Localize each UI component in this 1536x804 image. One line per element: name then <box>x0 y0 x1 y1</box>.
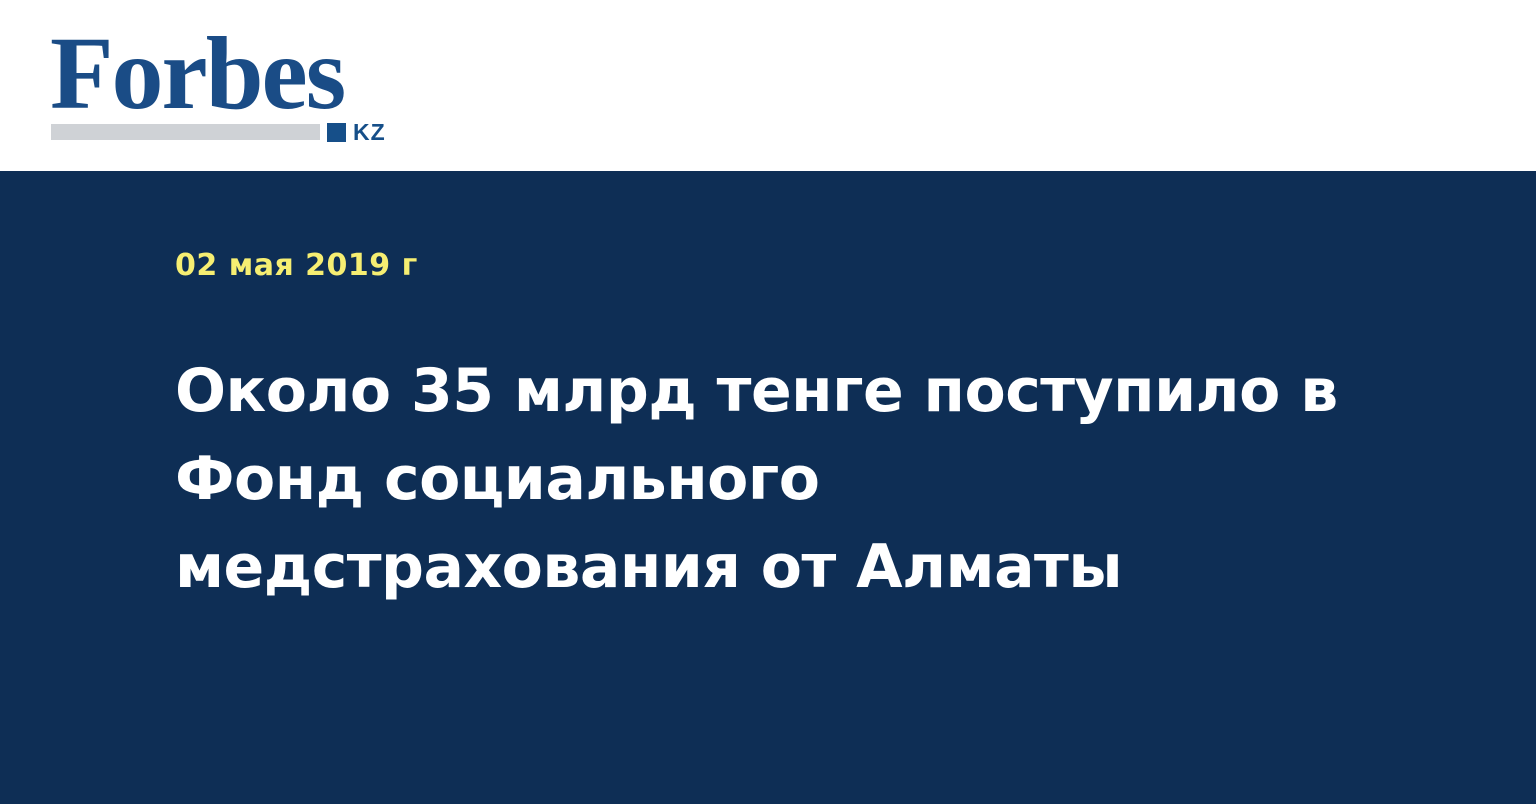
logo-blue-square-icon <box>327 123 346 142</box>
logo-kz-suffix: KZ <box>353 121 386 144</box>
forbes-kz-logo[interactable]: Forbes KZ <box>50 22 410 144</box>
logo-gray-rule <box>51 124 320 140</box>
article-headline: Около 35 млрд тенге поступило в Фонд соц… <box>175 347 1350 611</box>
article-hero-band: 02 мая 2019 г Около 35 млрд тенге поступ… <box>0 171 1536 804</box>
forbes-wordmark: Forbes <box>50 22 344 126</box>
site-masthead: Forbes KZ <box>0 0 1536 171</box>
article-hero-page: Forbes KZ 02 мая 2019 г Около 35 млрд те… <box>0 0 1536 804</box>
article-date: 02 мая 2019 г <box>175 249 418 283</box>
